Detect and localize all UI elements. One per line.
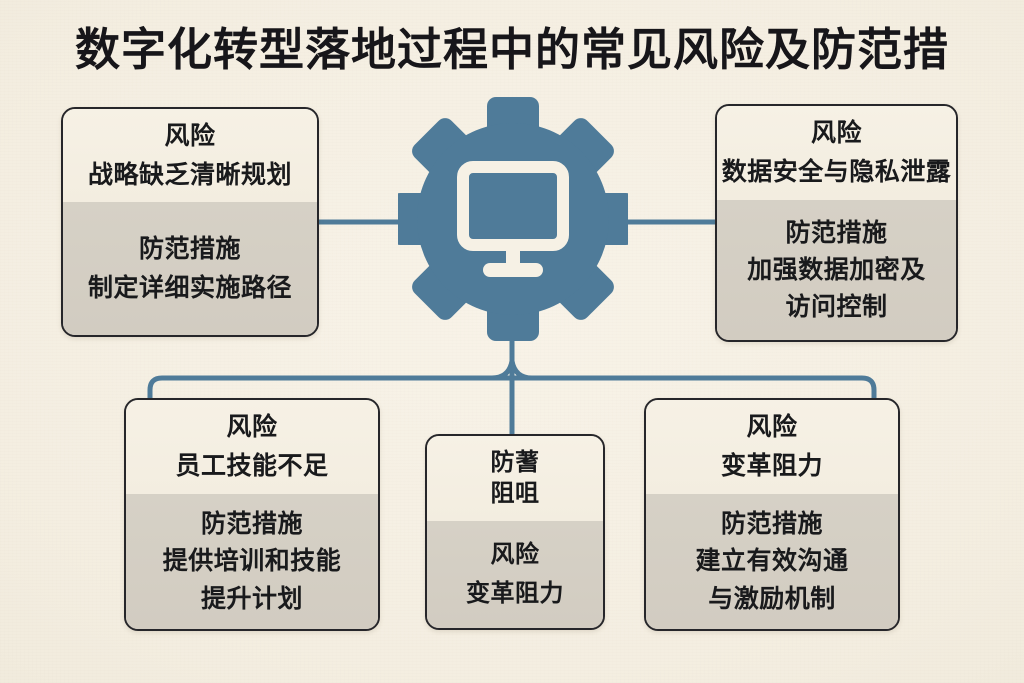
risk-card-data-security[interactable]: 风险 数据安全与隐私泄露 防范措施 加强数据加密及 访问控制: [715, 104, 958, 342]
risk-section: 风险 变革阻力: [427, 521, 603, 628]
risk-section: 风险 变革阻力: [646, 400, 898, 494]
risk-card-change-resistance-middle[interactable]: 防蓍 阻咀 风险 变革阻力: [425, 434, 605, 630]
risk-value: 战略缺乏清晰规划: [88, 159, 292, 192]
risk-label: 风险: [164, 120, 215, 152]
gear-with-monitor-icon: [398, 96, 628, 342]
measure-section: 防范措施 加强数据加密及 访问控制: [717, 200, 956, 340]
measure-section: 防范措施 提供培训和技能 提升计划: [126, 494, 378, 629]
measure-value-line2: 访问控制: [785, 291, 887, 324]
measure-label: 防范措施: [721, 508, 823, 540]
diagram-canvas: 数字化转型落地过程中的常见风险及防范措: [0, 0, 1024, 683]
measure-value-line2: 提升计划: [201, 583, 303, 616]
top-line-2: 阻咀: [491, 479, 540, 510]
risk-card-employee-skills[interactable]: 风险 员工技能不足 防范措施 提供培训和技能 提升计划: [124, 398, 380, 631]
risk-value: 数据安全与隐私泄露: [722, 156, 952, 189]
risk-label: 风险: [746, 411, 797, 443]
risk-card-change-resistance[interactable]: 风险 变革阻力 防范措施 建立有效沟通 与激励机制: [644, 398, 900, 631]
risk-card-strategy[interactable]: 风险 战略缺乏清晰规划 防范措施 制定详细实施路径: [61, 107, 319, 337]
measure-value-line1: 提供培训和技能: [163, 545, 342, 578]
measure-section: 防范措施 建立有效沟通 与激励机制: [646, 494, 898, 629]
measure-label: 防范措施: [201, 508, 303, 540]
risk-label: 风险: [811, 117, 862, 149]
measure-value: 制定详细实施路径: [88, 272, 292, 305]
connector-fillet-left: [492, 361, 512, 378]
measure-value-line2: 与激励机制: [708, 583, 836, 616]
center-icon-wrap: [398, 96, 628, 342]
measure-section: 防范措施 制定详细实施路径: [63, 202, 317, 335]
measure-value-line1: 加强数据加密及: [747, 254, 926, 287]
risk-label: 风险: [491, 540, 540, 571]
risk-section: 风险 战略缺乏清晰规划: [63, 109, 317, 202]
measure-value-line1: 建立有效沟通: [695, 545, 848, 578]
risk-section: 风险 数据安全与隐私泄露: [717, 106, 956, 200]
risk-value: 变革阻力: [466, 578, 564, 609]
top-section: 防蓍 阻咀: [427, 436, 603, 521]
risk-section: 风险 员工技能不足: [126, 400, 378, 494]
connector-br-elbow: [862, 378, 874, 398]
measure-label: 防范措施: [785, 217, 887, 249]
connector-fillet-right: [512, 361, 532, 378]
measure-label: 防范措施: [139, 233, 241, 265]
risk-value: 变革阻力: [721, 450, 823, 483]
risk-value: 员工技能不足: [175, 450, 328, 483]
top-line-1: 防蓍: [491, 448, 540, 479]
connector-bl-elbow: [150, 378, 162, 398]
risk-label: 风险: [226, 411, 277, 443]
